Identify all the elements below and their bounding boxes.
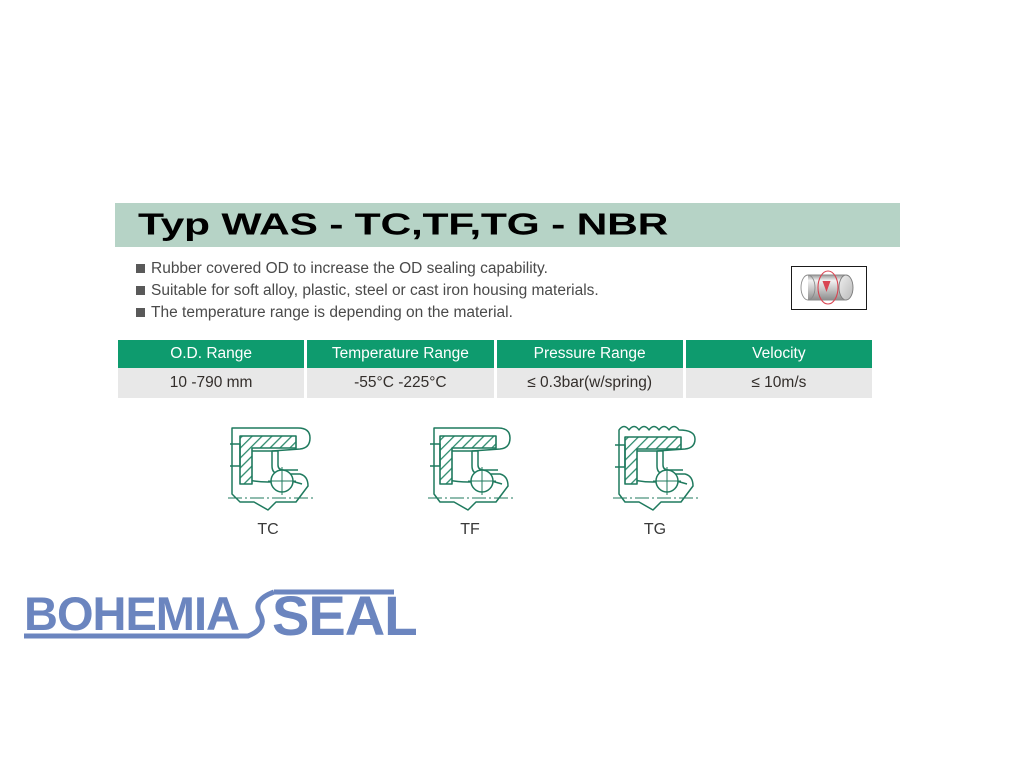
feature-text: The temperature range is depending on th…	[151, 302, 513, 324]
column-header-velocity: Velocity	[686, 340, 872, 368]
list-item: Suitable for soft alloy, plastic, steel …	[136, 280, 736, 302]
seal-cross-section-tf	[412, 418, 528, 518]
rotating-shaft-icon	[791, 266, 867, 310]
feature-text: Rubber covered OD to increase the OD sea…	[151, 258, 548, 280]
table-header-row: O.D. Range Temperature Range Pressure Ra…	[118, 340, 872, 368]
column-header-temperature-range: Temperature Range	[307, 340, 493, 368]
cell-temperature-range: -55°C -225°C	[307, 368, 493, 398]
title-banner: Typ WAS - TC,TF,TG - NBR	[115, 203, 900, 247]
seal-cross-section-tc	[210, 418, 326, 518]
feature-list: Rubber covered OD to increase the OD sea…	[136, 258, 736, 324]
feature-text: Suitable for soft alloy, plastic, steel …	[151, 280, 599, 302]
square-bullet-icon	[136, 264, 145, 273]
logo-text-bohemia: BOHEMIA	[24, 587, 239, 640]
cell-od-range: 10 -790 mm	[118, 368, 304, 398]
seal-label-tc: TC	[208, 521, 328, 539]
seal-diagram-group: TC TF	[0, 418, 1024, 553]
seal-figure-tg: TG	[595, 418, 715, 539]
cell-pressure-range: ≤ 0.3bar(w/spring)	[497, 368, 683, 398]
column-header-od-range: O.D. Range	[118, 340, 304, 368]
seal-label-tg: TG	[595, 521, 715, 539]
seal-label-tf: TF	[410, 521, 530, 539]
bohemia-seal-logo: BOHEMIA SEAL	[16, 578, 416, 648]
seal-figure-tf: TF	[410, 418, 530, 539]
page-title: Typ WAS - TC,TF,TG - NBR	[138, 206, 668, 242]
table-row: 10 -790 mm -55°C -225°C ≤ 0.3bar(w/sprin…	[118, 368, 872, 398]
seal-cross-section-tg	[597, 418, 713, 518]
cell-velocity: ≤ 10m/s	[686, 368, 872, 398]
logo-text-seal: SEAL	[272, 584, 416, 647]
square-bullet-icon	[136, 308, 145, 317]
list-item: The temperature range is depending on th…	[136, 302, 736, 324]
column-header-pressure-range: Pressure Range	[497, 340, 683, 368]
seal-figure-tc: TC	[208, 418, 328, 539]
square-bullet-icon	[136, 286, 145, 295]
specification-table: O.D. Range Temperature Range Pressure Ra…	[115, 340, 875, 398]
list-item: Rubber covered OD to increase the OD sea…	[136, 258, 736, 280]
